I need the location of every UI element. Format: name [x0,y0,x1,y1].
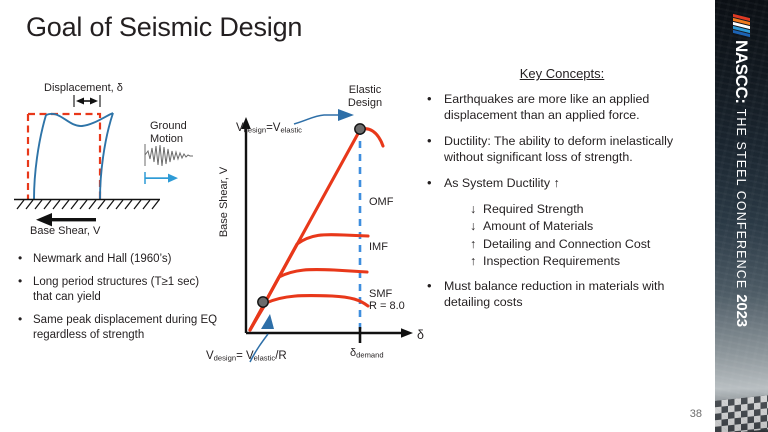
sub-item-label: Amount of Materials [483,219,593,233]
building-displacement-figure: Displacement, δ Ground Motion Base Shear… [8,82,218,247]
nascc-sidebar: NASCC: THE STEEL CONFERENCE 2023 [715,0,768,432]
list-item: Ductility: The ability to deform inelast… [424,134,700,166]
up-arrow-icon: ↑ [470,236,483,253]
y-axis-label: Base Shear, V [218,144,230,260]
pushover-curve-chart: Elastic Design Vdesign=Velastic Base She… [212,84,438,374]
undeformed-frame-outline [28,114,100,199]
callout-arrow-top-icon [294,109,354,124]
vd-bot-sub1: design [214,353,236,362]
vd-bot-v: V [206,350,214,362]
dd-sub: demand [356,350,383,359]
delta-demand-label: δdemand [350,347,384,360]
list-item: As System Ductility ↑ [424,176,700,192]
key-concepts-heading: Key Concepts: [424,66,700,81]
list-item: Earthquakes are more like an applied dis… [424,92,700,124]
list-item: Must balance reduction in materials with… [424,279,700,311]
displacement-caption: Displacement, δ [44,82,123,94]
elastic-design-line2: Design [338,97,392,110]
vd-top-eq: =V [266,122,280,134]
sub-item-label: Detailing and Connection Cost [483,237,650,251]
elastic-design-point-marker [355,124,365,134]
series-label-imf: IMF [369,241,388,254]
x-axis-arrow-icon [401,328,413,338]
ground-hatch-marks [17,200,159,209]
sub-item-label: Inspection Requirements [483,254,620,268]
displacement-double-arrow-icon [76,98,98,105]
smf-r-value-label: R = 8.0 [369,300,405,313]
nascc-brand: NASCC: [732,40,752,104]
base-shear-caption: Base Shear, V [30,225,100,237]
page-number: 38 [690,408,702,420]
slide-root: Goal of Seismic Design Displacement, δ G… [0,0,768,432]
up-arrow-icon: ↑ [470,253,483,270]
deformed-frame-outline [34,113,113,199]
down-arrow-icon: ↓ [470,218,483,235]
list-item: ↓Required Strength [470,201,700,218]
list-item: Long period structures (T≥1 sec) that ca… [16,275,221,305]
elastic-design-line1: Elastic [338,84,392,97]
v-design-elastic-over-r-annotation: Vdesign= Velastic/R [206,350,287,363]
x-axis-label: δ [417,328,424,343]
series-label-omf: OMF [369,196,393,209]
vd-bot-eq: = V [236,350,254,362]
down-arrow-icon: ↓ [470,201,483,218]
list-item: Newmark and Hall (1960’s) [16,252,221,267]
key-concepts-panel: Key Concepts: Earthquakes are more like … [424,66,700,321]
vd-top-v: V [236,122,244,134]
vd-bot-tail: /R [275,350,287,362]
vd-top-sub2: elastic [280,125,302,134]
ground-motion-caption: Ground Motion [150,120,187,146]
sub-item-label: Required Strength [483,202,584,216]
ground-motion-line1: Ground [150,120,187,133]
elastic-design-annotation: Elastic Design [338,84,392,110]
left-bullet-list: Newmark and Hall (1960’s) Long period st… [16,252,221,351]
seismogram-icon [145,144,193,166]
ground-motion-line2: Motion [150,133,187,146]
building-figure-svg [8,82,218,247]
sidebar-vertical-content: NASCC: THE STEEL CONFERENCE 2023 [715,0,768,432]
list-item: Same peak displacement during EQ regardl… [16,313,221,343]
v-design-elastic-annotation: Vdesign=Velastic [236,122,302,135]
nascc-tagline: THE STEEL CONFERENCE [735,109,749,290]
list-item: ↑Inspection Requirements [470,253,700,270]
list-item: ↑Detailing and Connection Cost [470,236,700,253]
vd-top-sub1: design [244,125,266,134]
nascc-logo-bars-icon [733,14,750,37]
nascc-year: 2023 [733,294,750,327]
page-title: Goal of Seismic Design [26,12,302,43]
ground-motion-arrow-icon [145,172,178,184]
vd-bot-sub2: elastic [254,353,276,362]
series-label-smf: SMF [369,288,392,301]
list-item: ↓Amount of Materials [470,218,700,235]
design-strength-point-marker [258,297,268,307]
ductility-effects-list: ↓Required Strength ↓Amount of Materials … [470,201,700,269]
curve-omf [250,235,368,330]
